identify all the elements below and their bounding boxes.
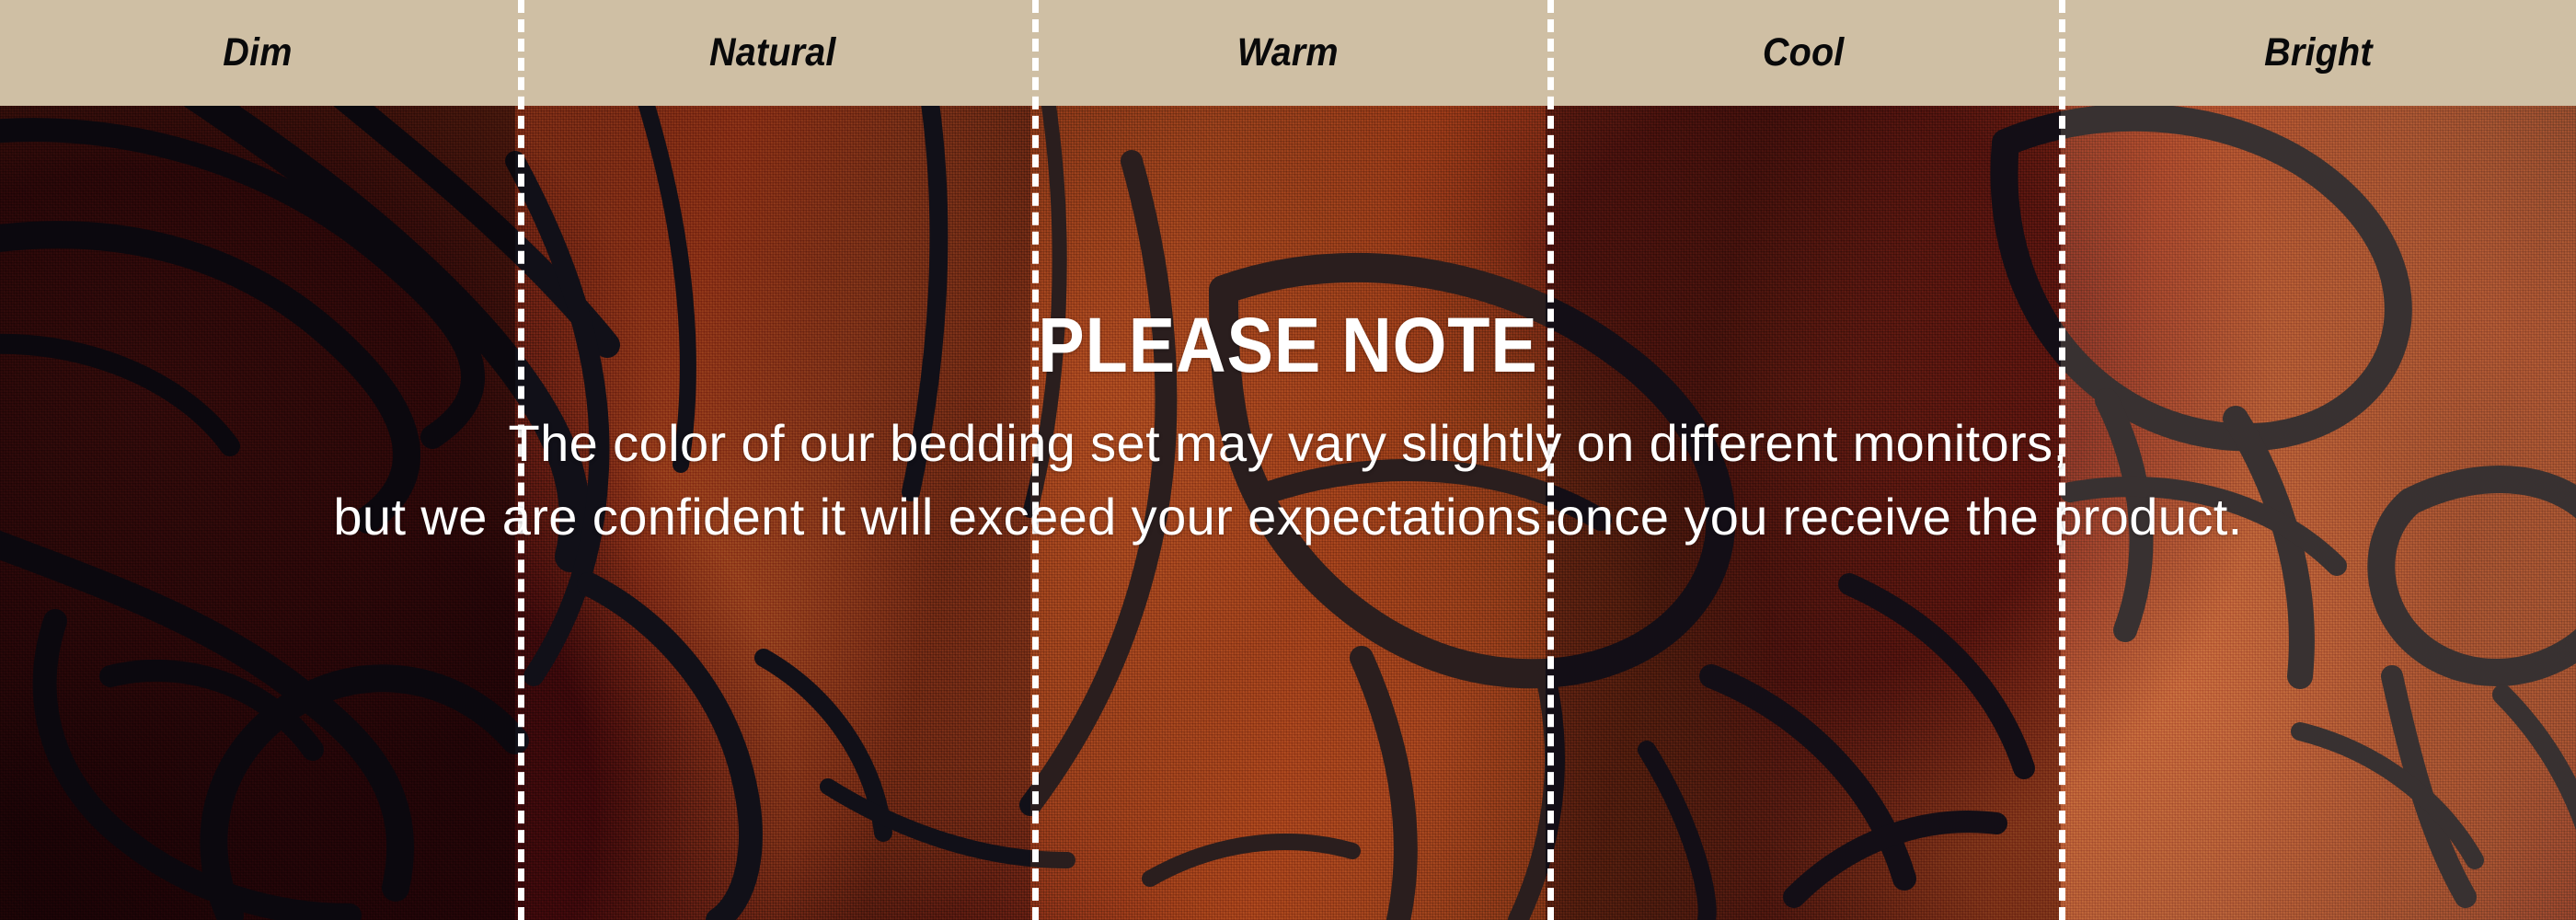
label-cell-warm: Warm <box>1030 0 1546 106</box>
lighting-condition-bar: Dim Natural Warm Cool Bright <box>0 0 2576 106</box>
lighting-label-cool: Cool <box>1763 30 1845 75</box>
product-fabric-photo <box>0 106 2576 920</box>
label-cell-cool: Cool <box>1546 0 2061 106</box>
label-cell-bright: Bright <box>2061 0 2576 106</box>
lighting-label-natural: Natural <box>709 30 836 75</box>
fabric-floral-lineart <box>0 106 2576 920</box>
lighting-label-warm: Warm <box>1237 30 1339 75</box>
color-disclaimer-banner: Dim Natural Warm Cool Bright PLEASE NOTE… <box>0 0 2576 920</box>
label-cell-dim: Dim <box>0 0 515 106</box>
lighting-label-dim: Dim <box>223 30 292 75</box>
label-cell-natural: Natural <box>515 0 1030 106</box>
lighting-label-bright: Bright <box>2264 30 2373 75</box>
